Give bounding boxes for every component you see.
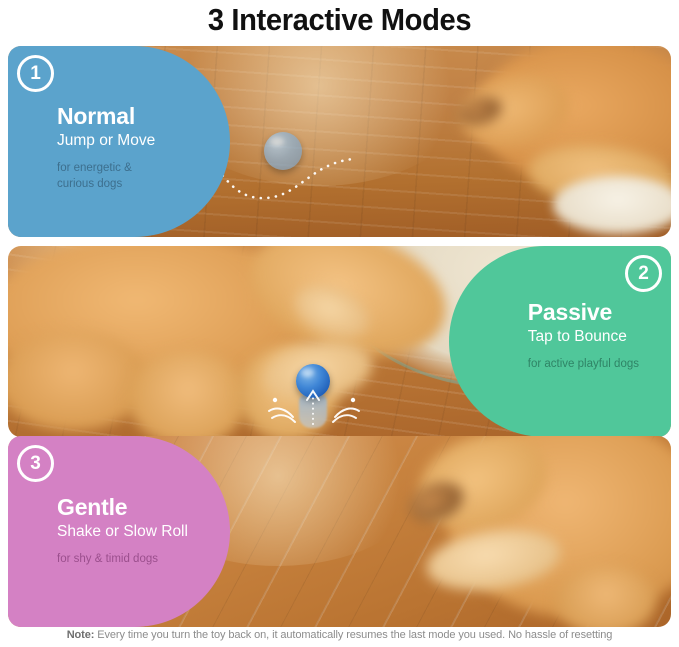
ball-bouncing: [296, 364, 330, 398]
mode-2-name: Passive: [528, 300, 639, 324]
mode-2-badge-number: 2: [638, 264, 649, 283]
mode-1-badge: 1: [17, 55, 54, 92]
mode-2-description: for active playful dogs: [528, 356, 639, 373]
mode-1-action: Jump or Move: [57, 131, 155, 150]
mode-3-action: Shake or Slow Roll: [57, 522, 188, 541]
mode-2-action: Tap to Bounce: [528, 327, 639, 346]
mode-3-badge-number: 3: [30, 454, 41, 473]
page-title: 3 Interactive Modes: [20, 2, 658, 38]
product-feature-graphic: 3 Interactive Modes: [0, 0, 679, 647]
ball-position-3-ghost: [264, 132, 302, 170]
mode-3-description: for shy & timid dogs: [57, 551, 188, 568]
mode-3-badge: 3: [17, 445, 54, 482]
dog-hind-leg: [556, 566, 656, 627]
footer-note-label: Note:: [67, 629, 95, 641]
rug-corner: [553, 176, 671, 234]
footer-note: Note: Every time you turn the toy back o…: [0, 629, 679, 641]
mode-2-badge: 2: [625, 255, 662, 292]
mode-1-description: for energetic & curious dogs: [57, 160, 155, 193]
mode-1-name: Normal: [57, 104, 155, 128]
mode-1-badge-number: 1: [30, 64, 41, 83]
mode-2-copy: Passive Tap to Bounce for active playful…: [528, 300, 639, 372]
footer-note-text: Every time you turn the toy back on, it …: [94, 629, 612, 641]
dog-rear-leg: [128, 351, 248, 437]
mode-3-copy: Gentle Shake or Slow Roll for shy & timi…: [57, 495, 188, 567]
mode-3-name: Gentle: [57, 495, 188, 519]
ball-motion-trail: [299, 394, 327, 428]
mode-1-copy: Normal Jump or Move for energetic & curi…: [57, 104, 155, 193]
